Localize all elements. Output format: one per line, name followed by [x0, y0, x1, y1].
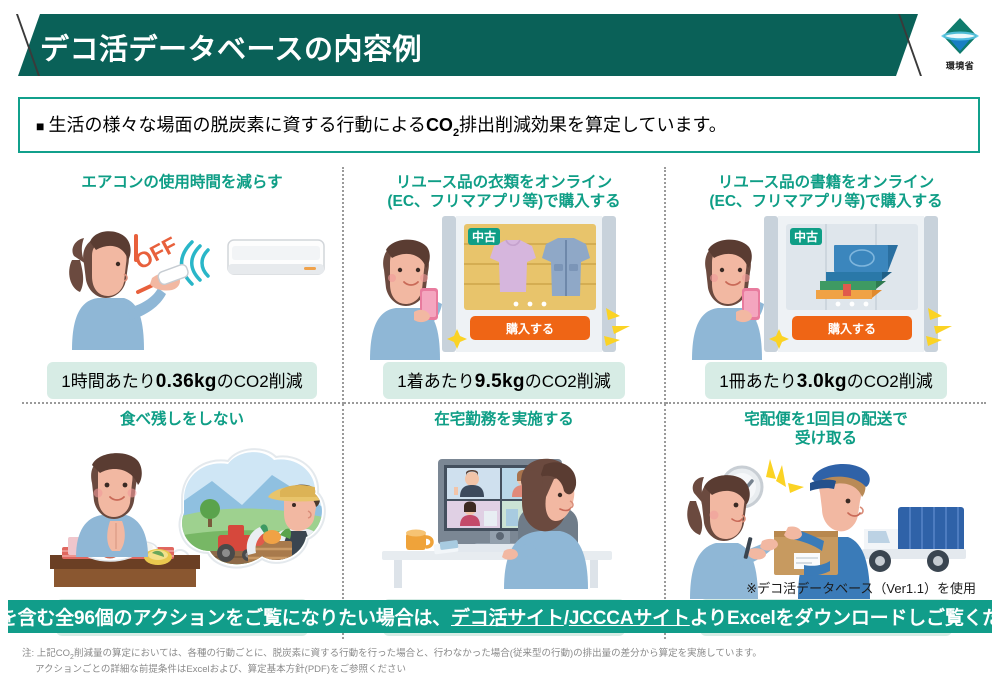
card-result-suffix: のCO2削減 — [217, 372, 303, 391]
parcel-first-delivery-icon — [676, 449, 976, 599]
card-result-prefix: 1着あたり — [397, 372, 474, 391]
footnote-line1-b: 削減量の算定においては、各種の行動ごとに、脱炭素に資する行動を行った場合と、行わ… — [74, 648, 762, 659]
lead-text-after: 排出削減効果を算定しています。 — [459, 115, 727, 135]
card-title: エアコンの使用時間を減らす — [81, 173, 282, 193]
air-conditioner-remote-off-icon: OFF — [32, 202, 332, 352]
action-card-aircon: エアコンの使用時間を減らす — [22, 167, 344, 404]
bottom-banner-text-2: よりExcelをダウンロードしご覧ください — [690, 608, 1000, 629]
footnote-line1-a: 注: 上記CO — [22, 648, 70, 659]
card-illustration: OFF — [32, 193, 332, 362]
action-card-reuse-books: リユース品の書籍をオンライン (EC、フリマアプリ等)で購入する — [666, 167, 986, 404]
ministry-logo-label: 環境省 — [928, 59, 992, 72]
card-result-value: 0.36kg — [156, 371, 217, 392]
footnote-line-2: アクションごとの詳細な前提条件はExcelおよび、算定基本方針(PDF)をご参照… — [22, 663, 962, 677]
card-badge-label: 中古 — [794, 229, 818, 244]
card-result-suffix: のCO2削減 — [525, 372, 611, 391]
card-buy-button-label: 購入する — [505, 321, 554, 336]
card-title: 在宅勤務を実施する — [434, 410, 574, 430]
telework-video-conference-icon — [354, 439, 654, 589]
online-shopping-used-clothes-icon: 中古 購入する — [354, 212, 654, 362]
card-result-suffix: のCO2削減 — [847, 372, 933, 391]
card-title: 食べ残しをしない — [120, 410, 244, 430]
card-result-value: 9.5kg — [475, 371, 525, 392]
no-food-waste-farmer-thought-icon — [32, 439, 332, 589]
card-result: 1着あたり9.5kgのCO2削減 — [383, 362, 625, 399]
header: デコ活データベースの内容例 — [0, 14, 1000, 76]
ministry-logo: 環境省 — [928, 16, 992, 76]
action-card-grid: エアコンの使用時間を減らす — [22, 167, 978, 572]
card-title: 宅配便を1回目の配送で 受け取る — [744, 410, 908, 449]
footnote-line-1: 注: 上記CO2削減量の算定においては、各種の行動ごとに、脱炭素に資する行動を行… — [22, 647, 962, 663]
bottom-banner: 上記を含む全96個のアクションをご覧になりたい場合は、デコ活サイト/JCCCAサ… — [8, 600, 992, 633]
link-dekokatsu-site[interactable]: デコ活サイト — [451, 608, 564, 629]
card-illustration: 中古 購入する — [676, 212, 976, 362]
card-result-value: 3.0kg — [797, 371, 847, 392]
bottom-banner-text-1: 上記を含む全96個のアクションをご覧になりたい場合は、 — [0, 608, 451, 629]
card-title: リユース品の衣類をオンライン (EC、フリマアプリ等)で購入する — [387, 173, 620, 212]
lead-box: ■生活の様々な場面の脱炭素に資する行動によるCO2排出削減効果を算定しています。 — [18, 97, 980, 153]
card-illustration: 中古 購入する — [354, 212, 654, 362]
page-title: デコ活データベースの内容例 — [40, 26, 422, 68]
lead-bullet: ■ — [36, 118, 44, 134]
lead-text-before: 生活の様々な場面の脱炭素に資する行動による — [48, 115, 425, 135]
card-illustration — [32, 430, 332, 599]
link-jccca-site[interactable]: JCCCAサイト — [569, 608, 690, 629]
lead-text: ■生活の様々な場面の脱炭素に資する行動によるCO2排出削減効果を算定しています。 — [36, 111, 727, 139]
card-buy-button-label: 購入する — [827, 321, 876, 336]
card-result-prefix: 1時間あたり — [61, 372, 155, 391]
card-title: リユース品の書籍をオンライン (EC、フリマアプリ等)で購入する — [709, 173, 942, 212]
card-illustration — [354, 430, 654, 599]
card-illustration — [676, 449, 976, 599]
ministry-of-environment-logo-icon — [937, 16, 983, 58]
footnotes: 注: 上記CO2削減量の算定においては、各種の行動ごとに、脱炭素に資する行動を行… — [22, 647, 962, 678]
action-card-reuse-clothes: リユース品の衣類をオンライン (EC、フリマアプリ等)で購入する — [344, 167, 666, 404]
lead-co2-label: CO — [426, 115, 453, 135]
bottom-banner-text: 上記を含む全96個のアクションをご覧になりたい場合は、デコ活サイト/JCCCAサ… — [0, 603, 1000, 630]
online-shopping-used-books-icon: 中古 購入する — [676, 212, 976, 362]
source-note: ※デコ活データベース（Ver1.1）を使用 — [746, 578, 976, 597]
card-badge-label: 中古 — [472, 229, 496, 244]
card-result: 1冊あたり3.0kgのCO2削減 — [705, 362, 947, 399]
card-result-prefix: 1冊あたり — [719, 372, 796, 391]
slide-root: デコ活データベースの内容例 環境省 ■生活の様々な場面の脱炭素に資する行動による… — [0, 0, 1000, 680]
card-result: 1時間あたり0.36kgのCO2削減 — [47, 362, 316, 399]
